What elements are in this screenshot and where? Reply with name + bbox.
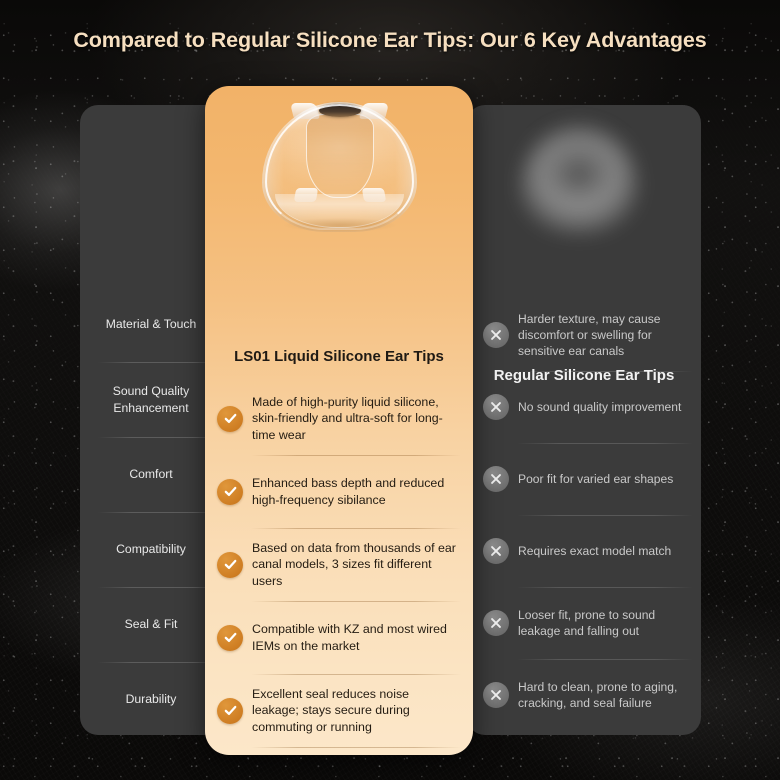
ours-card: LS01 Liquid Silicone Ear Tips Made of hi… [205, 86, 473, 755]
blurred-regular-ear-tip-image [519, 123, 639, 235]
feature-row: Poor fit for varied ear shapes [481, 443, 697, 515]
cross-icon [483, 394, 509, 420]
ours-hero [205, 86, 473, 258]
criteria-item-label: Compatibility [116, 541, 186, 557]
feature-text: Hard to clean, prone to aging, cracking,… [518, 679, 691, 711]
feature-text: Excellent seal reduces noise leakage; st… [252, 686, 459, 736]
criteria-item: Material & Touch [80, 287, 222, 362]
cross-icon [483, 322, 509, 348]
regular-hero [467, 105, 701, 255]
criteria-item: Sound Quality Enhancement [80, 362, 222, 437]
cross-icon [483, 682, 509, 708]
feature-text: Compatible with KZ and most wired IEMs o… [252, 621, 459, 654]
feature-text: Enhanced bass depth and reduced high-fre… [252, 475, 459, 508]
regular-feature-list: Harder texture, may cause discomfort or … [481, 299, 697, 735]
cross-icon [483, 610, 509, 636]
feature-row: Based on data from thousands of ear cana… [215, 528, 465, 601]
feature-text: No sound quality improvement [518, 399, 691, 415]
criteria-item: Compatibility [80, 512, 222, 587]
page-title: Compared to Regular Silicone Ear Tips: O… [0, 28, 780, 53]
ours-feature-list: Made of high-purity liquid silicone, ski… [215, 382, 465, 755]
check-icon [217, 625, 243, 651]
feature-row: Enhanced bass depth and reduced high-fre… [215, 455, 465, 528]
feature-row: Excellent seal reduces noise leakage; st… [215, 674, 465, 747]
liquid-silicone-ear-tip-image [262, 102, 417, 232]
feature-text: Based on data from thousands of ear cana… [252, 540, 459, 590]
feature-row: Washable with water, reusable, resistant… [215, 747, 465, 755]
criteria-list: Material & TouchSound Quality Enhancemen… [80, 287, 222, 737]
feature-text: Requires exact model match [518, 543, 691, 559]
criteria-item: Seal & Fit [80, 587, 222, 662]
ours-heading: LS01 Liquid Silicone Ear Tips [205, 348, 473, 365]
feature-row: Harder texture, may cause discomfort or … [481, 299, 697, 371]
feature-row: Hard to clean, prone to aging, cracking,… [481, 659, 697, 731]
criteria-item: Durability [80, 662, 222, 737]
check-icon [217, 479, 243, 505]
feature-text: Poor fit for varied ear shapes [518, 471, 691, 487]
ear-tip-shadow [284, 218, 396, 232]
check-icon [217, 552, 243, 578]
regular-card: Regular Silicone Ear Tips Harder texture… [467, 105, 701, 735]
feature-text: Looser fit, prone to sound leakage and f… [518, 607, 691, 639]
criteria-item: Comfort [80, 437, 222, 512]
criteria-item-label: Seal & Fit [125, 616, 178, 632]
check-icon [217, 406, 243, 432]
feature-text: Made of high-purity liquid silicone, ski… [252, 394, 459, 444]
feature-row: Looser fit, prone to sound leakage and f… [481, 587, 697, 659]
feature-row: Compatible with KZ and most wired IEMs o… [215, 601, 465, 674]
feature-text: Harder texture, may cause discomfort or … [518, 311, 691, 359]
feature-row: Made of high-purity liquid silicone, ski… [215, 382, 465, 455]
criteria-item-label: Durability [126, 691, 177, 707]
cross-icon [483, 538, 509, 564]
cross-icon [483, 466, 509, 492]
criteria-item-label: Sound Quality Enhancement [88, 383, 214, 415]
criteria-item-label: Material & Touch [106, 316, 197, 332]
criteria-item-label: Comfort [129, 466, 172, 482]
feature-row: No sound quality improvement [481, 371, 697, 443]
check-icon [217, 698, 243, 724]
feature-row: Requires exact model match [481, 515, 697, 587]
